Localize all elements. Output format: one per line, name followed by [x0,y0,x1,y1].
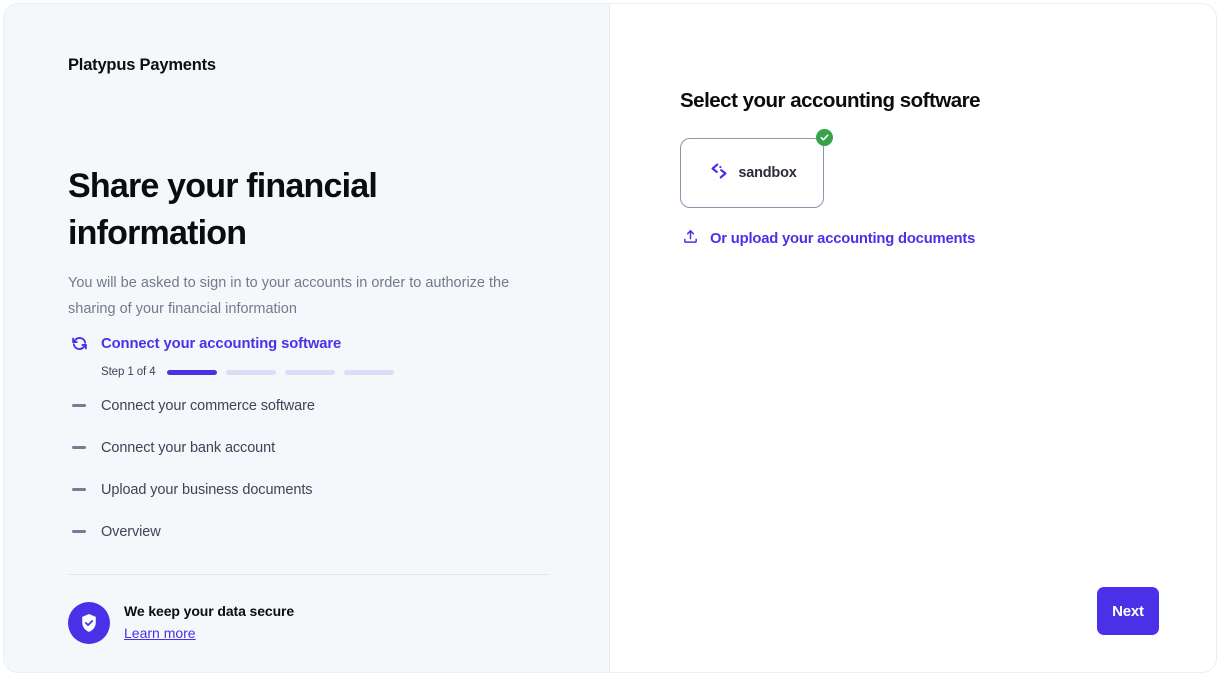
step-item-connect-bank[interactable]: Connect your bank account [68,434,558,461]
step-progress-label: Step 1 of 4 [101,366,156,378]
page-title: Share your financial information [68,163,488,257]
next-button[interactable]: Next [1097,587,1159,635]
security-title: We keep your data secure [124,603,294,619]
step-item-connect-accounting[interactable]: Connect your accounting software [68,330,558,357]
step-label: Overview [101,524,161,540]
provider-name: sandbox [738,165,796,181]
right-selection-panel: Select your accounting software sandbox [610,4,1216,672]
step-label: Upload your business documents [101,482,312,498]
step-label: Connect your bank account [101,440,275,456]
dash-icon [68,479,90,501]
footer-divider [68,574,550,575]
panel-title: Select your accounting software [680,89,980,113]
page-subtext: You will be asked to sign in to your acc… [68,270,550,322]
provider-option-sandbox[interactable]: sandbox [680,138,824,208]
dash-icon [68,395,90,417]
step-label: Connect your commerce software [101,398,315,414]
left-info-panel: Platypus Payments Share your financial i… [4,4,610,672]
brand-title: Platypus Payments [68,56,216,75]
step-label: Connect your accounting software [101,336,341,352]
step-item-upload-documents[interactable]: Upload your business documents [68,476,558,503]
step-progress: Step 1 of 4 [101,366,558,378]
step-item-overview[interactable]: Overview [68,518,558,545]
code-brackets-icon [707,159,731,188]
learn-more-link[interactable]: Learn more [124,625,196,641]
progress-segment-2 [226,370,276,375]
onboarding-window: Platypus Payments Share your financial i… [4,4,1216,672]
shield-check-icon [68,602,110,644]
step-item-connect-commerce[interactable]: Connect your commerce software [68,392,558,419]
upload-label: Or upload your accounting documents [710,231,975,247]
upload-documents-link[interactable]: Or upload your accounting documents [682,228,975,250]
progress-track [167,370,394,375]
dash-icon [68,521,90,543]
upload-icon [682,228,699,250]
progress-segment-3 [285,370,335,375]
progress-segment-4 [344,370,394,375]
sync-icon [68,333,90,355]
provider-logo: sandbox [707,159,796,188]
step-list: Connect your accounting software Step 1 … [68,330,558,560]
check-circle-icon [816,129,833,146]
data-security-notice: We keep your data secure Learn more [68,602,294,644]
progress-segment-1 [167,370,217,375]
provider-card[interactable]: sandbox [680,138,824,208]
dash-icon [68,437,90,459]
